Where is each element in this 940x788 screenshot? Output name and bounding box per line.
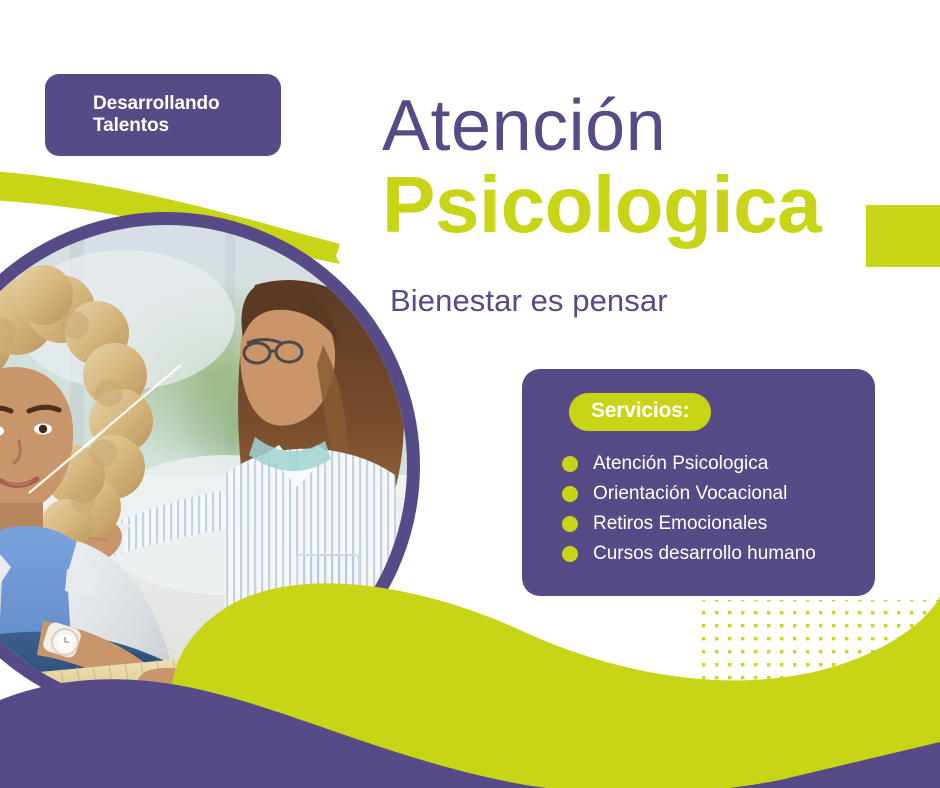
dot-pattern [700,600,940,700]
list-item: Atención Psicologica [562,454,861,475]
service-label: Retiros Emocionales [593,514,767,535]
list-item: Cursos desarrollo humano [562,544,861,565]
services-list: Atención Psicologica Orientación Vocacio… [562,454,861,574]
service-label: Atención Psicologica [593,454,768,475]
services-badge: Servicios: [569,393,711,431]
headline-primary: Atención [382,92,902,161]
headline-block: Atención Psicologica [382,92,902,245]
badge-line-1: Desarrollando [93,93,281,115]
list-item: Retiros Emocionales [562,514,861,535]
poster-canvas: Desarrollando Talentos Atención Psicolog… [0,0,940,788]
headline-subtitle: Bienestar es pensar [390,283,668,319]
headline-secondary: Psicologica [382,165,902,245]
list-item: Orientación Vocacional [562,484,861,505]
desarrollando-talentos-badge: Desarrollando Talentos [45,74,281,156]
bullet-dot-icon [562,456,578,472]
badge-line-2: Talentos [93,115,281,137]
services-card: Servicios: Atención Psicologica Orientac… [522,369,875,596]
service-label: Orientación Vocacional [593,484,787,505]
bullet-dot-icon [562,546,578,562]
photo-circle-ring [0,212,420,720]
service-label: Cursos desarrollo humano [593,544,816,565]
bullet-dot-icon [562,486,578,502]
bottom-left-purple-lobe [0,709,400,788]
bullet-dot-icon [562,516,578,532]
